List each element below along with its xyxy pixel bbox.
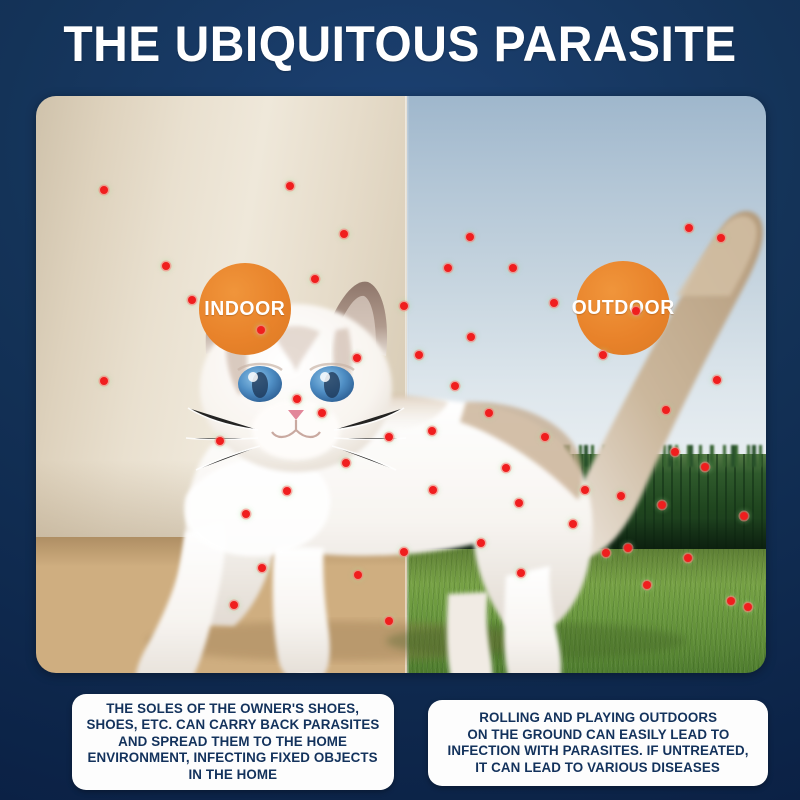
parasite-dot [684,554,692,562]
indoor-caption: THE SOLES OF THE OWNER'S SHOES, SHOES, E… [72,694,394,790]
parasite-dot [658,501,666,509]
parasite-dot [541,433,549,441]
parasite-dot [485,409,493,417]
parasite-dot [230,601,238,609]
badge-outdoor-label: OUTDOOR [571,297,674,320]
parasite-dot [286,182,294,190]
parasite-dot [162,262,170,270]
parasite-dot [671,448,679,456]
parasite-dot [515,499,523,507]
parasite-dot [429,486,437,494]
parasite-dot [502,464,510,472]
cat-photo [36,96,766,673]
caption-line: ON THE GROUND CAN EASILY LEAD TO [467,727,729,744]
parasite-dot [242,510,250,518]
parasite-dot [385,433,393,441]
caption-line: INFECTION WITH PARASITES. IF UNTREATED, [447,743,748,760]
parasite-dot [318,409,326,417]
cat-front-leg-right [273,546,330,673]
badge-indoor[interactable]: INDOOR [199,263,291,355]
parasite-dot [340,230,348,238]
parasite-dot [257,326,265,334]
parasite-dot [258,564,266,572]
cat-hind-leg-right [447,592,493,673]
parasite-dot [713,376,721,384]
parasite-dot [685,224,693,232]
parasite-dot [400,548,408,556]
parasite-dot [643,581,651,589]
parasite-dot [550,299,558,307]
parasite-dot [100,377,108,385]
parasite-dot [188,296,196,304]
caption-line: IN THE HOME [189,767,278,784]
parasite-dot [581,486,589,494]
parasite-dot [477,539,485,547]
parasite-dot [744,603,752,611]
parasite-dot [415,351,423,359]
caption-line: ROLLING AND PLAYING OUTDOORS [479,710,717,727]
parasite-dot [624,544,632,552]
parasite-dot [599,351,607,359]
parasite-dot [293,395,301,403]
parasite-dot [632,307,640,315]
parasite-dot [311,275,319,283]
parasite-dot [444,264,452,272]
parasite-dot [353,354,361,362]
parasite-dot [517,569,525,577]
badge-outdoor[interactable]: OUTDOOR [576,261,670,355]
poster-root: THE UBIQUITOUS PARASITE [0,0,800,800]
caption-line: SHOES, ETC. CAN CARRY BACK PARASITES [87,717,380,734]
caption-line: THE SOLES OF THE OWNER'S SHOES, [107,701,360,718]
parasite-dot [385,617,393,625]
parasite-dot [216,437,224,445]
parasite-dot [428,427,436,435]
parasite-dot [701,463,709,471]
caption-line: ENVIRONMENT, INFECTING FIXED OBJECTS [88,750,378,767]
caption-line: IT CAN LEAD TO VARIOUS DISEASES [476,760,721,777]
parasite-dot [727,597,735,605]
parasite-dot [617,492,625,500]
caption-line: AND SPREAD THEM TO THE HOME [119,734,348,751]
parasite-dot [717,234,725,242]
parasite-dot [354,571,362,579]
parasite-dot [400,302,408,310]
parasite-dot [662,406,670,414]
parasite-dot [342,459,350,467]
parasite-dot [569,520,577,528]
parasite-dot [466,233,474,241]
parasite-dot [283,487,291,495]
parasite-dot [602,549,610,557]
parasite-dot [740,512,748,520]
parasite-dot [509,264,517,272]
badge-indoor-label: INDOOR [204,298,285,321]
split-image-panel: INDOOR OUTDOOR [36,96,766,673]
parasite-dot [467,333,475,341]
outdoor-caption: ROLLING AND PLAYING OUTDOORS ON THE GROU… [428,700,768,786]
page-title: THE UBIQUITOUS PARASITE [16,18,784,70]
parasite-dot [451,382,459,390]
parasite-dot [100,186,108,194]
